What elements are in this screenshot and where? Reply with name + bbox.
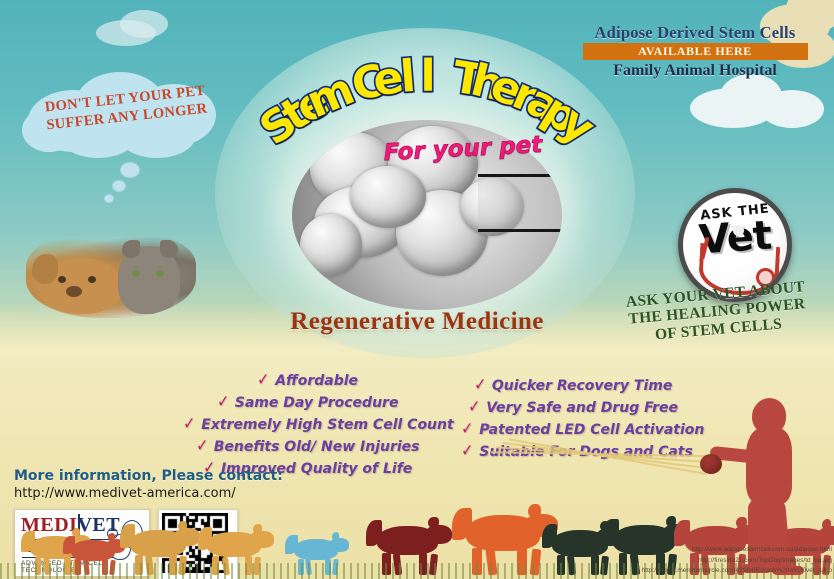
benefits-list-left: ✓Affordable✓Same Day Procedure✓Extremely… [182, 370, 432, 480]
title-char: l [398, 51, 417, 103]
check-icon: ✓ [461, 419, 473, 439]
check-icon: ✓ [217, 392, 229, 412]
dog-and-cat-photo [26, 232, 196, 318]
benefit-item: ✓Benefits Old/ New Injuries [182, 436, 432, 456]
paw-icon [733, 225, 744, 236]
benefit-item: ✓Very Safe and Drug Free [460, 397, 685, 417]
bubble-dot-medium [112, 180, 126, 192]
header-line-adipose: Adipose Derived Stem Cells [570, 24, 820, 41]
title-char: l [420, 51, 435, 102]
check-icon: ✓ [257, 370, 269, 390]
benefit-item: ✓Extremely High Stem Cell Count [182, 414, 432, 434]
benefit-label: Same Day Procedure [235, 395, 399, 411]
bubble-dot-small [104, 194, 114, 203]
check-icon: ✓ [468, 397, 480, 417]
benefit-label: Benefits Old/ New Injuries [214, 439, 420, 455]
bubble-dot-large [120, 162, 140, 178]
check-icon: ✓ [196, 436, 208, 456]
benefit-label: Extremely High Stem Cell Count [201, 417, 453, 433]
throw-motion-lines [486, 427, 706, 487]
check-icon: ✓ [474, 375, 486, 395]
benefit-label: Quicker Recovery Time [492, 378, 673, 394]
contact-heading: More information, Please contact: [14, 468, 283, 484]
benefit-label: Affordable [275, 373, 358, 389]
thought-bubble: DON'T LET YOUR PET SUFFER ANY LONGER [22, 68, 222, 160]
image-credits: http://www.adiposestemcell.com.au/adipos… [582, 545, 832, 577]
thrown-ball [700, 454, 722, 474]
benefit-item: ✓Same Day Procedure [182, 392, 432, 412]
benefit-label: Very Safe and Drug Free [486, 400, 678, 416]
check-icon: ✓ [461, 441, 473, 461]
credit-url: http://fireside21.com/TopDog/images/td_b… [582, 556, 832, 567]
title-subtitle: For your pet [347, 130, 578, 168]
credit-url: http://www.adiposestemcell.com.au/adipos… [582, 545, 832, 556]
check-icon: ✓ [183, 414, 195, 434]
poster-canvas: DON'T LET YOUR PET SUFFER ANY LONGER Adi… [0, 0, 834, 579]
benefits-left-items: ✓Affordable✓Same Day Procedure✓Extremely… [182, 370, 432, 478]
benefit-item: ✓Affordable [182, 370, 432, 390]
benefit-item: ✓Quicker Recovery Time [460, 375, 685, 395]
ask-your-vet-callout: ASK YOUR VET ABOUT THE HEALING POWER OF … [608, 277, 826, 348]
poster-title: Stem Cell Therapy For your pet [208, 44, 648, 194]
credit-url: http://media.merchantcircle.com/42984952… [582, 566, 832, 577]
